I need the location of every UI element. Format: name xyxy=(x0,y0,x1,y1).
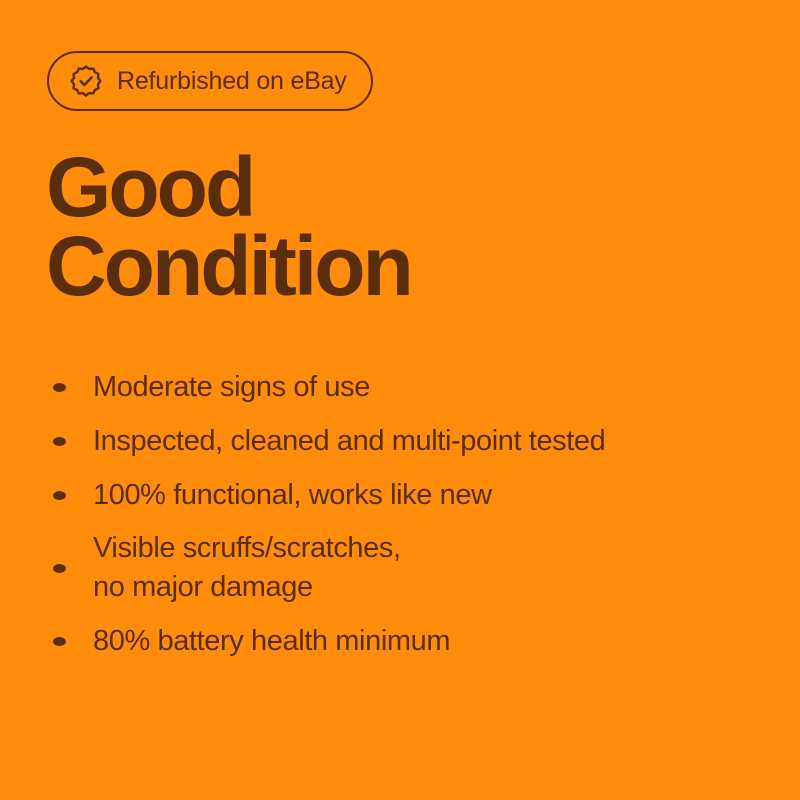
list-item: 100% functional, works like new xyxy=(46,468,758,522)
refurbished-condition-card: Refurbished on eBay Good Condition Moder… xyxy=(0,0,800,800)
page-title-line-1: Good xyxy=(46,148,756,227)
refurbished-badge: Refurbished on eBay xyxy=(47,51,373,111)
verified-seal-check-icon xyxy=(69,64,103,98)
page-title-line-2: Condition xyxy=(46,227,756,306)
list-item-label: Inspected, cleaned and multi-point teste… xyxy=(93,422,605,461)
bullet-dot-icon xyxy=(53,637,66,646)
bullet-dot-icon xyxy=(53,491,66,500)
list-item: Moderate signs of use xyxy=(46,360,758,414)
list-item: 80% battery health minimum xyxy=(46,614,758,668)
list-item-label: Visible scruffs/scratches, no major dama… xyxy=(93,529,401,607)
refurbished-badge-label: Refurbished on eBay xyxy=(117,69,347,94)
bullet-dot-icon xyxy=(53,564,66,573)
bullet-dot-icon xyxy=(53,437,66,446)
bullet-dot-icon xyxy=(53,383,66,392)
list-item: Visible scruffs/scratches, no major dama… xyxy=(46,522,758,614)
list-item-label: 100% functional, works like new xyxy=(93,476,492,515)
list-item-label: Moderate signs of use xyxy=(93,368,370,407)
list-item: Inspected, cleaned and multi-point teste… xyxy=(46,414,758,468)
page-title: Good Condition xyxy=(46,148,756,306)
list-item-label: 80% battery health minimum xyxy=(93,622,450,661)
condition-feature-list: Moderate signs of use Inspected, cleaned… xyxy=(46,360,758,668)
